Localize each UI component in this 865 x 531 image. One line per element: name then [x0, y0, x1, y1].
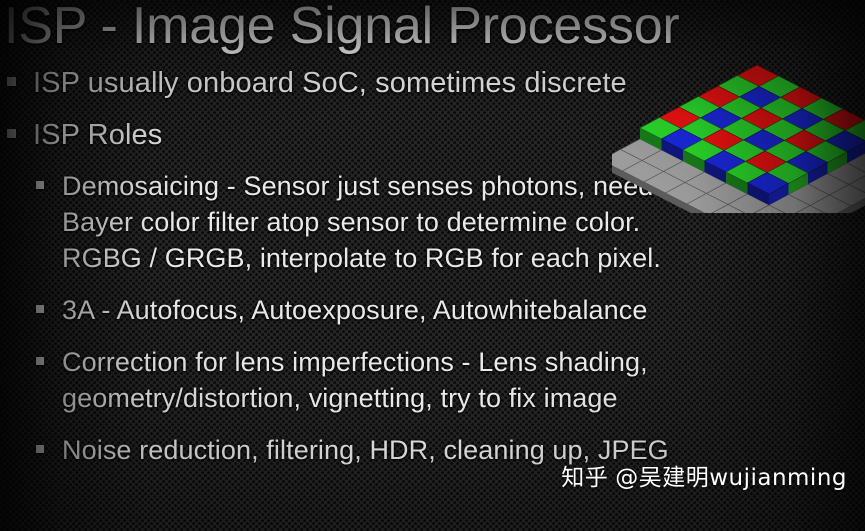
bayer-diagram-svg: [612, 58, 865, 213]
bullet-marker-icon: [36, 168, 62, 189]
bullet-line: Correction for lens imperfections - Lens…: [62, 344, 648, 380]
bullet-line: Demosaicing - Sensor just senses photons…: [62, 168, 661, 204]
bullet-3a: 3A - Autofocus, Autoexposure, Autowhiteb…: [0, 292, 865, 328]
bullet-line: geometry/distortion, vignetting, try to …: [62, 380, 648, 416]
watermark-platform: 知乎: [561, 465, 608, 491]
watermark: 知乎 @吴建明wujianming: [561, 458, 847, 492]
watermark-handle: @吴建明wujianming: [615, 465, 847, 491]
page-title: ISP - Image Signal Processor: [4, 0, 680, 56]
bayer-color-filter-array-diagram: [612, 58, 865, 213]
bullet-line: RGBG / GRGB, interpolate to RGB for each…: [62, 240, 661, 276]
bullet-marker-icon: [3, 116, 33, 138]
bullet-marker-icon: [3, 64, 33, 86]
bullet-text: Correction for lens imperfections - Lens…: [62, 344, 648, 416]
bullet-line: Bayer color filter atop sensor to determ…: [62, 204, 661, 240]
bullet-text: 3A - Autofocus, Autoexposure, Autowhiteb…: [62, 292, 648, 328]
bullet-line: 3A - Autofocus, Autoexposure, Autowhiteb…: [62, 292, 648, 328]
bullet-text: ISP Roles: [33, 116, 162, 154]
slide-canvas: ISP - Image Signal Processor ISP usually…: [0, 0, 865, 531]
bullet-marker-icon: [36, 344, 62, 365]
bullet-marker-icon: [36, 292, 62, 313]
bullet-text: ISP usually onboard SoC, sometimes discr…: [33, 64, 627, 102]
bullet-marker-icon: [36, 432, 62, 453]
bullet-text: Demosaicing - Sensor just senses photons…: [62, 168, 661, 276]
bullet-lens-correction: Correction for lens imperfections - Lens…: [0, 344, 865, 416]
